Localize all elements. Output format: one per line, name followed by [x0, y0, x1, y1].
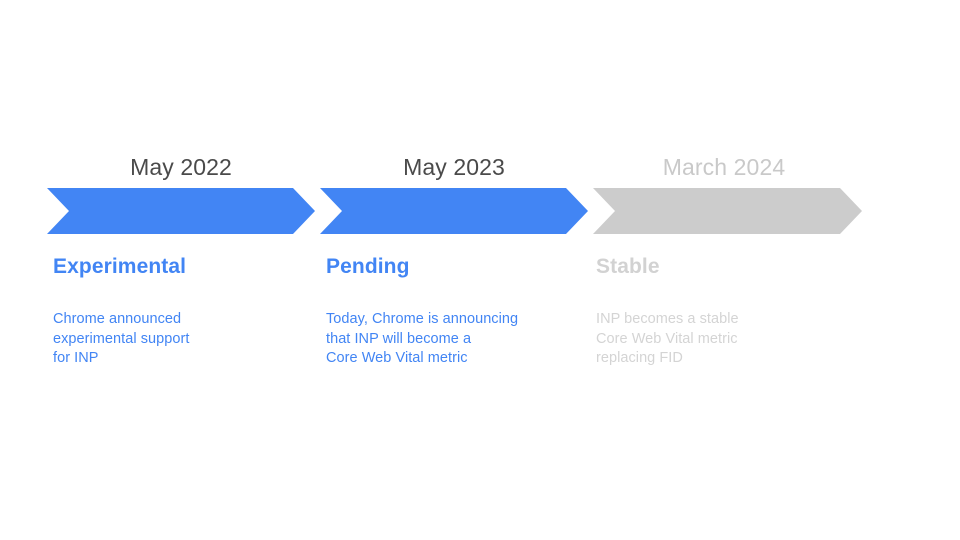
timeline-date-march-2024: March 2024	[590, 152, 858, 182]
stage-heading-stable: Stable	[596, 253, 858, 281]
stage-description-pending: Today, Chrome is announcing that INP wil…	[326, 310, 588, 369]
chevron-segment-stable	[593, 188, 862, 234]
chevron-segment-experimental	[47, 188, 315, 234]
chevron-segment-pending	[320, 188, 588, 234]
stage-description-stable: INP becomes a stable Core Web Vital metr…	[596, 310, 858, 369]
timeline-date-may-2022: May 2022	[47, 152, 315, 182]
chevron-band	[0, 188, 960, 234]
stage-heading-experimental: Experimental	[53, 253, 315, 281]
stage-description-experimental: Chrome announced experimental support fo…	[53, 310, 315, 369]
chevron-arrows-svg	[0, 188, 960, 234]
stage-heading-pending: Pending	[326, 253, 588, 281]
timeline-date-may-2023: May 2023	[320, 152, 588, 182]
inp-timeline-diagram: May 2022 May 2023 March 2024 Experimenta…	[0, 0, 960, 540]
